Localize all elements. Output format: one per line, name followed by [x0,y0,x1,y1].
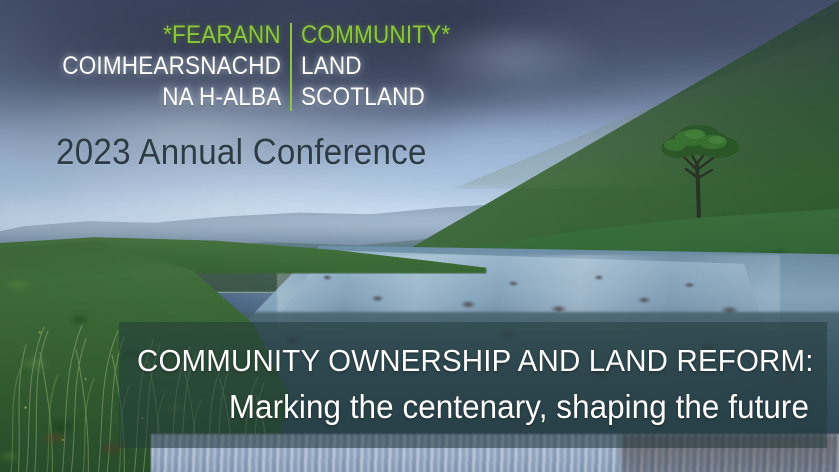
logo-gaelic-line-2: COIMHEARSNACHD [62,51,281,82]
conference-title-line-2: Marking the centenary, shaping the futur… [171,383,809,431]
conference-title-line-1: COMMUNITY OWNERSHIP AND LAND REFORM: [137,339,775,383]
conference-poster: *FEARANN COIMHEARSNACHD NA H-ALBA COMMUN… [0,0,839,472]
logo-gaelic-line-1: *FEARANN [163,20,281,51]
logo-english-line-1: COMMUNITY* [301,20,450,51]
logo-english-line-2: LAND [301,51,362,82]
logo-english-column: COMMUNITY* LAND SCOTLAND [292,20,467,113]
event-subtitle: 2023 Annual Conference [56,130,427,174]
logo-english-line-3: SCOTLAND [301,82,425,113]
community-land-scotland-logo: *FEARANN COIMHEARSNACHD NA H-ALBA COMMUN… [38,20,467,113]
logo-gaelic-line-3: NA H-ALBA [162,82,281,113]
conference-title-banner: COMMUNITY OWNERSHIP AND LAND REFORM: Mar… [119,322,827,448]
logo-gaelic-column: *FEARANN COIMHEARSNACHD NA H-ALBA [38,20,290,113]
